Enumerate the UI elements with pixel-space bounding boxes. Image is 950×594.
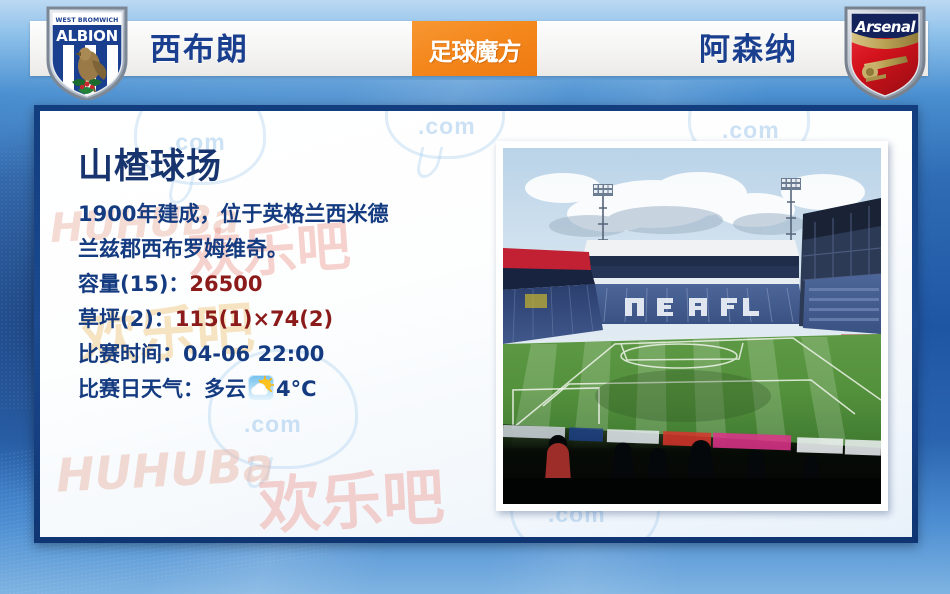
stadium-title: 山楂球场 bbox=[78, 145, 478, 189]
away-crest-text: Arsenal bbox=[854, 18, 916, 36]
site-logo-label: 足球魔方 bbox=[412, 32, 537, 67]
capacity-value: 26500 bbox=[189, 272, 262, 296]
capacity-label: 容量(15)： bbox=[78, 272, 189, 296]
pitch-size-row: 草坪(2)：115(1)×74(2) bbox=[78, 302, 478, 337]
watermark-domain: .com bbox=[418, 113, 476, 140]
away-team-name: 阿森纳 bbox=[699, 30, 798, 70]
watermark-domain: .com bbox=[244, 411, 302, 438]
stadium-description-line-2: 兰兹郡西布罗姆维奇。 bbox=[78, 232, 478, 267]
kickoff-value: 04-06 22:00 bbox=[183, 342, 324, 366]
weather-row: 比赛日天气：多云 4°C bbox=[78, 372, 478, 407]
page-background: 西布朗 阿森纳 足球魔方 bbox=[0, 0, 950, 594]
pitch-size-label: 草坪(2)： bbox=[78, 307, 175, 331]
home-crest-top-text: WEST BROMWICH bbox=[56, 17, 119, 24]
home-team-crest: WEST BROMWICH ALBION bbox=[44, 4, 130, 100]
content-panel: .com .com .com .com .com .com HUHUBa HUH… bbox=[40, 111, 912, 537]
capacity-row: 容量(15)：26500 bbox=[78, 267, 478, 302]
stadium-info: 山楂球场 1900年建成，位于英格兰西米德 兰兹郡西布罗姆维奇。 容量(15)：… bbox=[78, 145, 478, 407]
watermark-brand-cn: 欢乐吧 bbox=[256, 446, 446, 537]
site-logo[interactable]: 足球魔方 bbox=[412, 21, 537, 76]
stadium-photo-frame[interactable] bbox=[496, 141, 888, 511]
watermark-brand-en: HUHUBa bbox=[55, 437, 275, 502]
kickoff-row: 比赛时间：04-06 22:00 bbox=[78, 337, 478, 372]
away-team-crest: Arsenal bbox=[842, 4, 928, 100]
stadium-photo bbox=[503, 148, 881, 504]
content-panel-frame: .com .com .com .com .com .com HUHUBa HUH… bbox=[34, 105, 918, 543]
home-team-name: 西布朗 bbox=[150, 30, 249, 70]
watermark-domain: .com bbox=[722, 117, 780, 144]
weather-label: 比赛日天气： bbox=[78, 377, 204, 401]
weather-temperature: 4°C bbox=[276, 377, 317, 401]
stadium-description-line-1: 1900年建成，位于英格兰西米德 bbox=[78, 197, 478, 232]
home-crest-main-text: ALBION bbox=[56, 27, 118, 45]
kickoff-label: 比赛时间： bbox=[78, 342, 183, 366]
pitch-size-value: 115(1)×74(2) bbox=[175, 307, 333, 331]
partly-cloudy-icon bbox=[248, 375, 274, 401]
weather-condition: 多云 bbox=[204, 377, 246, 401]
